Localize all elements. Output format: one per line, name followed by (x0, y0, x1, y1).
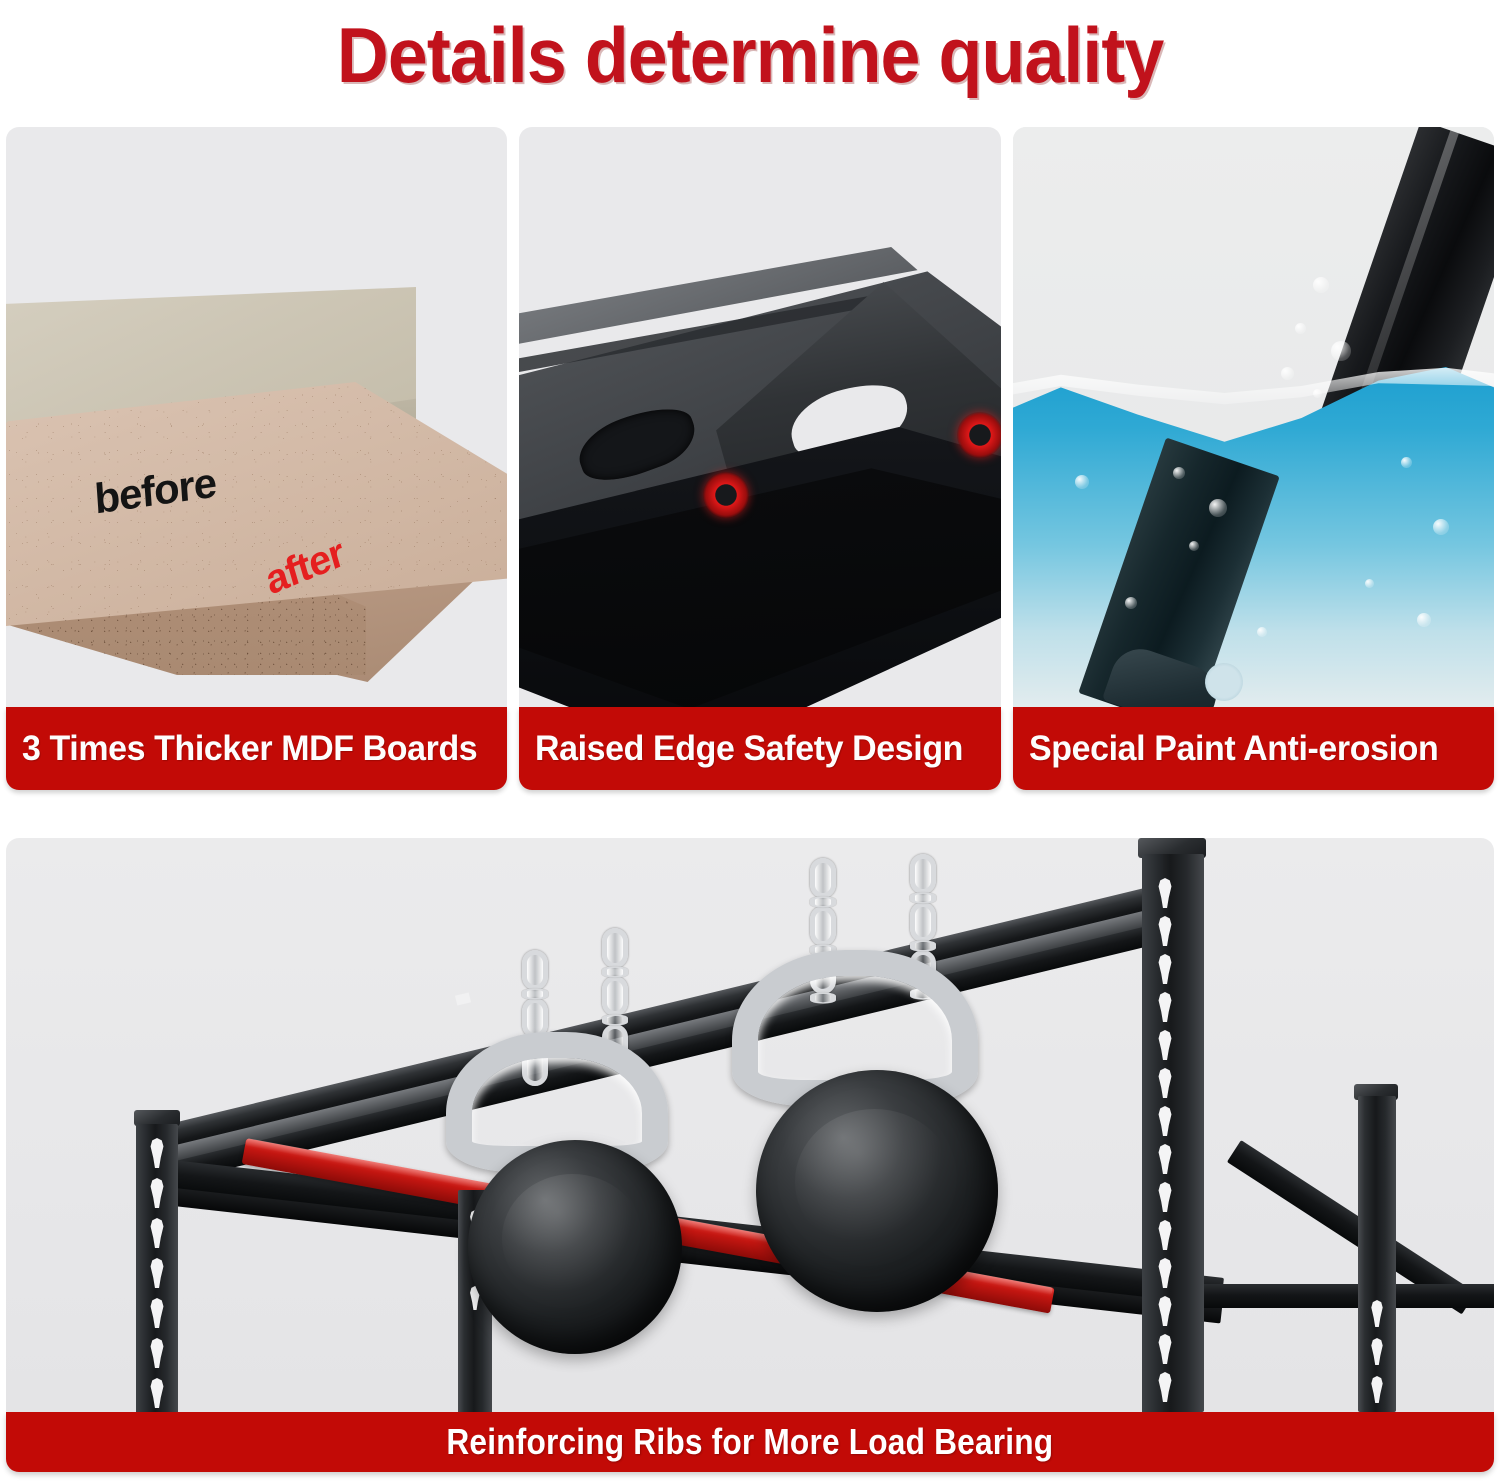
feature-card-reinforcing-ribs[interactable]: Reinforcing Ribs for More Load Bearing (6, 838, 1494, 1472)
raised-edge-caption-bar: Raised Edge Safety Design (519, 707, 1000, 790)
keyhole-icon (1370, 1300, 1385, 1327)
keyhole-icon (149, 1338, 166, 1368)
water-illustration (1013, 127, 1494, 707)
chain-link (522, 988, 548, 999)
bubble (1433, 519, 1449, 535)
kettlebell-bell (756, 1070, 998, 1312)
chain-link (522, 950, 548, 990)
keyhole-icon (1157, 1068, 1174, 1098)
rack-top-rear-beam-lip (154, 899, 1196, 1166)
chain-link (810, 858, 836, 898)
keyhole-icon (149, 1218, 166, 1248)
kettlebell-bell (468, 1140, 682, 1354)
feature-card-raised-edge[interactable]: Raised Edge Safety Design (519, 127, 1000, 790)
rack-front-beam-lower (155, 1186, 1222, 1323)
post-keyhole-slots (136, 1124, 178, 1412)
post-keyhole-slots (1142, 854, 1204, 1412)
reinforcing-ribs-caption-bar: Reinforcing Ribs for More Load Bearing (6, 1412, 1494, 1472)
post-keyhole-slots (1358, 1096, 1396, 1412)
rack-post-right-front (1142, 854, 1204, 1412)
keyhole-icon (1157, 916, 1174, 946)
bubble (1401, 457, 1412, 468)
bubble (1173, 467, 1185, 479)
keyhole-icon (1157, 1106, 1174, 1136)
rack-post-left (136, 1124, 178, 1412)
reinforcing-ribs-caption-text: Reinforcing Ribs for More Load Bearing (447, 1421, 1054, 1463)
raised-edge-photo (519, 127, 1000, 707)
chain-link (602, 1014, 628, 1025)
feature-card-row: before after 3 Times Thicker MDF Boards (0, 127, 1500, 790)
keyhole-icon (1157, 1296, 1174, 1326)
keyhole-icon (149, 1378, 166, 1408)
keyhole-icon (149, 1258, 166, 1288)
anti-erosion-caption-text: Special Paint Anti-erosion (1029, 729, 1438, 769)
rivet-highlight-icon (957, 412, 1000, 458)
feature-card-anti-erosion[interactable]: Special Paint Anti-erosion (1013, 127, 1494, 790)
raised-edge-caption-text: Raised Edge Safety Design (535, 729, 963, 769)
beam-illustration (519, 127, 1000, 707)
keyhole-icon (1157, 1258, 1174, 1288)
feature-card-mdf-boards[interactable]: before after 3 Times Thicker MDF Boards (6, 127, 507, 790)
keyhole-icon (149, 1138, 166, 1168)
keyhole-icon (1157, 1030, 1174, 1060)
anti-erosion-caption-bar: Special Paint Anti-erosion (1013, 707, 1494, 790)
keyhole-icon (1157, 954, 1174, 984)
keyhole-icon (1157, 1220, 1174, 1250)
mdf-illustration: before after (6, 127, 507, 707)
bubble (1125, 597, 1137, 609)
chain-link (810, 906, 836, 946)
mdf-boards-caption-bar: 3 Times Thicker MDF Boards (6, 707, 507, 790)
bubble (1313, 389, 1322, 398)
bubble (1295, 323, 1306, 334)
keyhole-icon (1157, 1334, 1174, 1364)
chain-link (910, 902, 936, 942)
mdf-boards-photo: before after (6, 127, 507, 707)
chain-link (910, 940, 936, 951)
chain-link (602, 976, 628, 1016)
keyhole-icon (149, 1298, 166, 1328)
keyhole-icon (1370, 1376, 1385, 1403)
bubble (1365, 579, 1374, 588)
bubble (1281, 367, 1294, 380)
rack-right-rear-beam (1186, 1284, 1494, 1308)
rack-top-rear-beam-shadow (154, 916, 1195, 1186)
keyhole-icon (1157, 1144, 1174, 1174)
page-title: Details determine quality (337, 16, 1163, 94)
mdf-boards-caption-text: 3 Times Thicker MDF Boards (22, 729, 477, 769)
rack-beam-slot-marker (455, 992, 471, 1005)
anti-erosion-photo (1013, 127, 1494, 707)
chain-link (602, 966, 628, 977)
bubble (1417, 613, 1431, 627)
chain-link (602, 928, 628, 968)
bubble (1331, 341, 1351, 361)
keyhole-icon (149, 1178, 166, 1208)
bubble (1313, 277, 1329, 293)
keyhole-icon (1370, 1338, 1385, 1365)
chain-link (910, 854, 936, 894)
chain-link (910, 892, 936, 903)
bubble (1209, 499, 1227, 517)
keyhole-icon (1157, 1372, 1174, 1402)
rack-photo (6, 838, 1494, 1412)
keyhole-icon (1157, 878, 1174, 908)
bubble (1189, 541, 1199, 551)
bubble (1257, 627, 1267, 637)
chain-link (810, 896, 836, 907)
keyhole-icon (1157, 992, 1174, 1022)
keyhole-icon (1157, 1182, 1174, 1212)
rack-post-far-right (1358, 1096, 1396, 1412)
hanging-chain (602, 928, 628, 1048)
page-title-bar: Details determine quality (0, 0, 1500, 110)
bubble (1075, 475, 1089, 489)
